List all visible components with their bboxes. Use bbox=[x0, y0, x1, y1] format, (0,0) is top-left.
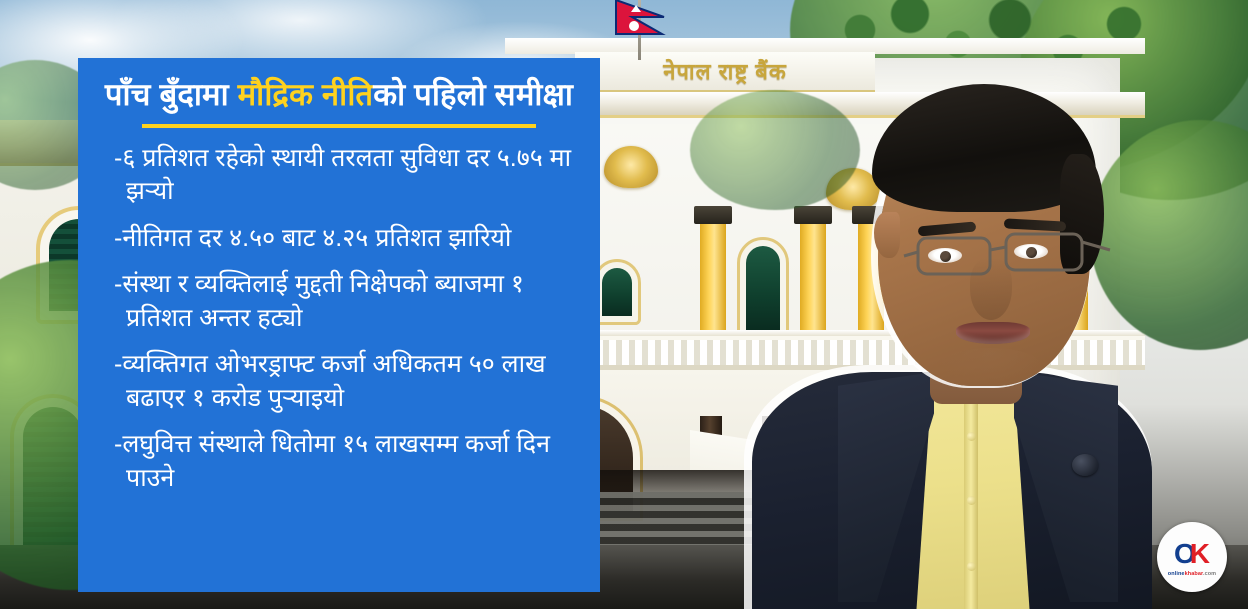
logo-wordmark: onlinekhabar.com bbox=[1168, 571, 1216, 577]
bullet-item-1: -६ प्रतिशत रहेको स्थायी तरलता सुविधा दर … bbox=[100, 142, 578, 209]
panel-title-lead: पाँच बुँदामा bbox=[105, 77, 238, 112]
onlinekhabar-logo[interactable]: O K onlinekhabar.com bbox=[1157, 522, 1227, 592]
panel-title-highlight: मौद्रिक नीति bbox=[238, 77, 374, 112]
bullet-item-3: -संस्था र व्यक्तिलाई मुद्दती निक्षेपको ब… bbox=[100, 268, 578, 335]
nose bbox=[970, 258, 1012, 320]
chin bbox=[938, 348, 1042, 384]
gold-crest-ornament bbox=[604, 146, 658, 188]
bullet-item-4: -व्यक्तिगत ओभरड्राफ्ट कर्जा अधिकतम ५० ला… bbox=[100, 348, 578, 415]
logo-word-khabar: khabar bbox=[1185, 571, 1203, 577]
gold-pilaster bbox=[700, 222, 726, 340]
arched-window bbox=[596, 262, 638, 322]
bullet-list: -६ प्रतिशत रहेको स्थायी तरलता सुविधा दर … bbox=[100, 142, 578, 496]
shirt-button bbox=[967, 432, 976, 441]
infographic-canvas: नेपाल राष्ट्र बैंक bbox=[0, 0, 1248, 609]
shirt-placket bbox=[964, 378, 978, 609]
mouth bbox=[956, 322, 1030, 344]
bullet-item-5: -लघुवित्त संस्थाले धितोमा १५ लाखसम्म कर्… bbox=[100, 428, 578, 495]
shirt-button bbox=[967, 496, 976, 505]
panel-title: पाँच बुँदामा मौद्रिक नीतिको पहिलो समीक्ष… bbox=[100, 76, 578, 114]
bullet-item-2: -नीतिगत दर ४.५० बाट ४.२५ प्रतिशत झारियो bbox=[100, 222, 578, 256]
ear bbox=[874, 212, 900, 258]
logo-mark: O K bbox=[1174, 540, 1210, 568]
panel-title-trail: को पहिलो समीक्षा bbox=[373, 77, 573, 112]
logo-word-tld: .com bbox=[1203, 571, 1216, 577]
shirt-button bbox=[967, 562, 976, 571]
lapel-pin bbox=[1072, 454, 1098, 476]
portrait-cutout bbox=[742, 72, 1162, 609]
logo-word-online: online bbox=[1168, 571, 1185, 577]
nepal-flag-icon bbox=[612, 0, 676, 56]
title-underline-rule bbox=[142, 124, 536, 128]
logo-letter-k: K bbox=[1190, 540, 1210, 568]
info-panel: पाँच बुँदामा मौद्रिक नीतिको पहिलो समीक्ष… bbox=[78, 58, 600, 592]
